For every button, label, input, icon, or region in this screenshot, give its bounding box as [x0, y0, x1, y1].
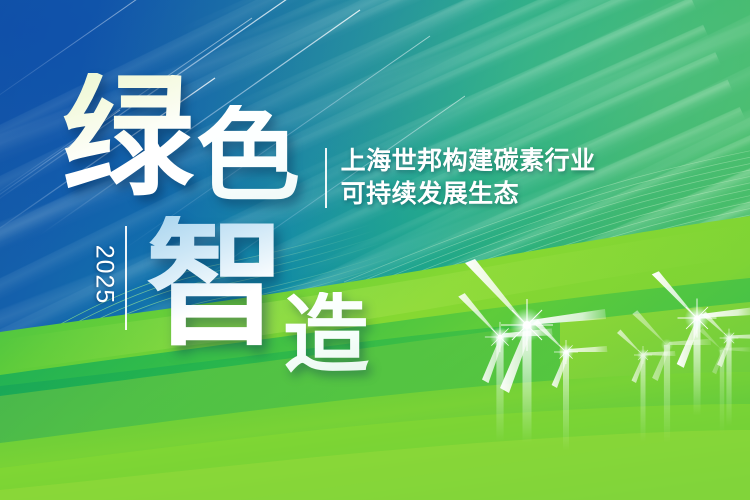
subtitle-divider — [325, 148, 327, 208]
subtitle-line-1: 上海世邦构建碳素行业 — [341, 148, 596, 175]
year-label: 2025 — [90, 221, 119, 329]
year-divider — [125, 226, 127, 330]
headline-char-zhi: 智 — [146, 216, 286, 356]
subtitle-block: 上海世邦构建碳素行业 可持续发展生态 — [325, 148, 596, 208]
subtitle-lines: 上海世邦构建碳素行业 可持续发展生态 — [341, 148, 596, 208]
headline-char-lv: 绿 — [62, 73, 194, 205]
subtitle-line-2: 可持续发展生态 — [341, 181, 596, 208]
headline-char-se: 色 — [196, 105, 300, 209]
year-badge: 2025 — [84, 222, 124, 330]
headline-char-zao: 造 — [283, 292, 369, 378]
poster-content: 绿 色 智 造 2025 上海世邦构建碳素行业 可持续发展生态 — [0, 0, 750, 500]
poster-banner: 绿 色 智 造 2025 上海世邦构建碳素行业 可持续发展生态 — [0, 0, 750, 500]
